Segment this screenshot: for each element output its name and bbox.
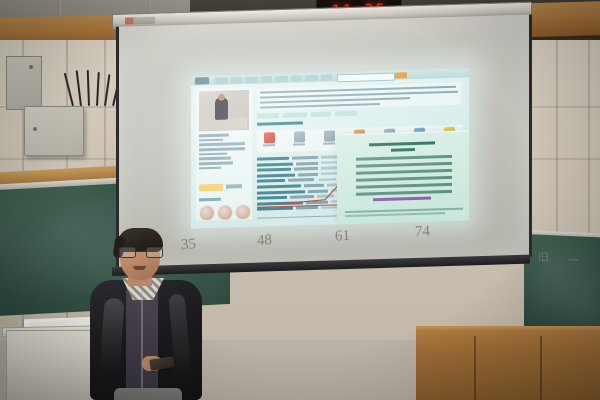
green-callout-panel — [337, 130, 469, 225]
nav-tab — [275, 75, 288, 81]
signal-jammer-device — [6, 28, 106, 138]
housing-brand-label — [125, 17, 155, 25]
slide-tag — [283, 112, 307, 118]
slide-profile-meta — [199, 133, 249, 172]
slide-icon-item[interactable] — [263, 132, 275, 147]
nav-tab — [291, 75, 302, 81]
lecture-hall-screenshot: 11:35 旧 — [0, 0, 600, 400]
trousers — [114, 388, 182, 400]
slide-profile-panel — [196, 87, 252, 221]
slide-tag — [257, 113, 279, 119]
slide-tag — [335, 111, 357, 117]
nav-tab — [245, 76, 258, 82]
slide-section-heading — [257, 121, 303, 126]
mouth — [133, 266, 146, 270]
slide-speaker-photo — [199, 90, 249, 131]
nav-tab — [231, 77, 242, 83]
slide-tag — [311, 112, 331, 118]
wall-access-panel — [6, 56, 42, 110]
presenter — [86, 228, 206, 400]
site-logo-icon — [195, 77, 209, 84]
nav-tab — [261, 76, 272, 82]
projected-slide — [191, 68, 469, 228]
callout-title — [369, 141, 435, 146]
avatar[interactable] — [235, 204, 251, 220]
callout-subtitle — [391, 148, 415, 152]
slide-search-button[interactable] — [395, 72, 407, 78]
callout-footnote-2 — [345, 212, 445, 217]
nav-tab — [215, 77, 228, 83]
antenna-icon — [76, 70, 82, 106]
avatar[interactable] — [217, 204, 233, 220]
slide-related-heading — [199, 198, 221, 202]
slide-icon-item[interactable] — [323, 130, 335, 145]
slide-primary-button[interactable] — [199, 184, 223, 192]
blackboard-right: 旧 一 — [524, 232, 600, 340]
avatar[interactable] — [199, 205, 215, 221]
nav-tab — [305, 74, 318, 80]
slide-secondary-button[interactable] — [226, 184, 242, 188]
slide-description — [257, 83, 461, 111]
eyeglasses-icon — [119, 247, 161, 256]
jammer-body — [24, 106, 84, 156]
antenna-icon — [64, 73, 74, 106]
callout-date — [373, 197, 431, 202]
wainscot-panel — [416, 330, 600, 400]
slide-search-input[interactable] — [337, 72, 395, 82]
nav-tab — [321, 74, 332, 80]
pencil-mark: 61 — [335, 228, 351, 246]
antenna-icon — [96, 72, 100, 106]
antenna-icon — [87, 70, 90, 106]
blackboard-right-surface: 旧 一 — [524, 234, 600, 336]
pencil-mark: 48 — [257, 232, 273, 250]
chalk-mark: 一 — [568, 252, 579, 268]
chalk-mark: 旧 — [538, 249, 549, 265]
pencil-mark: 74 — [415, 223, 430, 241]
slide-icon-item[interactable] — [293, 131, 305, 146]
jacket-zipper — [141, 290, 143, 390]
